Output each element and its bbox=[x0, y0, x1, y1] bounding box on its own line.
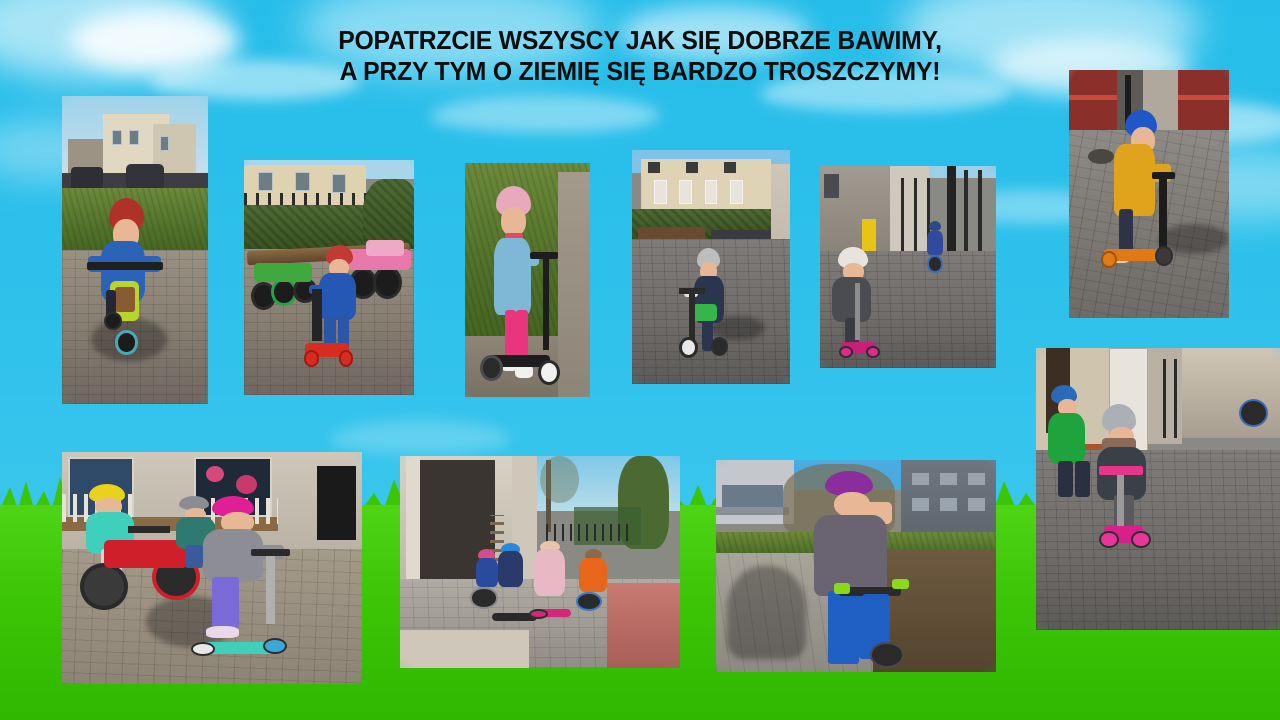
bike-frame bbox=[104, 540, 188, 568]
title-line-1: POPATRZCIE WSZYSCY JAK SIĘ DOBRZE BAWIMY… bbox=[19, 26, 1261, 57]
photo-8[interactable] bbox=[62, 452, 362, 684]
scooter-deck bbox=[692, 304, 717, 320]
photo-6[interactable] bbox=[1069, 70, 1229, 318]
cloud-icon bbox=[430, 95, 660, 133]
jacket bbox=[832, 277, 871, 321]
photo-5[interactable] bbox=[820, 166, 996, 368]
photo-10[interactable] bbox=[716, 460, 996, 672]
photo-4[interactable] bbox=[632, 150, 790, 384]
photo-1[interactable] bbox=[62, 96, 208, 404]
photo-3[interactable] bbox=[465, 163, 590, 397]
title-line-2: A PRZY TYM O ZIEMIĘ SIĘ BARDZO TROSZCZYM… bbox=[19, 57, 1261, 88]
photo-9[interactable] bbox=[400, 456, 680, 668]
cloud-icon bbox=[330, 420, 510, 454]
jacket bbox=[814, 515, 887, 596]
jacket bbox=[927, 231, 943, 255]
jacket bbox=[534, 549, 565, 596]
jacket bbox=[579, 558, 607, 592]
bike-frame bbox=[862, 594, 890, 649]
jacket bbox=[476, 558, 498, 588]
photo-7[interactable] bbox=[1036, 348, 1280, 630]
jacket bbox=[1048, 413, 1085, 464]
photo-2[interactable] bbox=[244, 160, 414, 395]
jacket bbox=[498, 551, 523, 587]
photo-collage-poster: POPATRZCIE WSZYSCY JAK SIĘ DOBRZE BAWIMY… bbox=[0, 0, 1280, 720]
poster-title: POPATRZCIE WSZYSCY JAK SIĘ DOBRZE BAWIMY… bbox=[19, 26, 1261, 88]
jacket bbox=[494, 238, 532, 315]
hat bbox=[929, 221, 941, 231]
jacket bbox=[319, 273, 356, 320]
face bbox=[501, 207, 526, 235]
